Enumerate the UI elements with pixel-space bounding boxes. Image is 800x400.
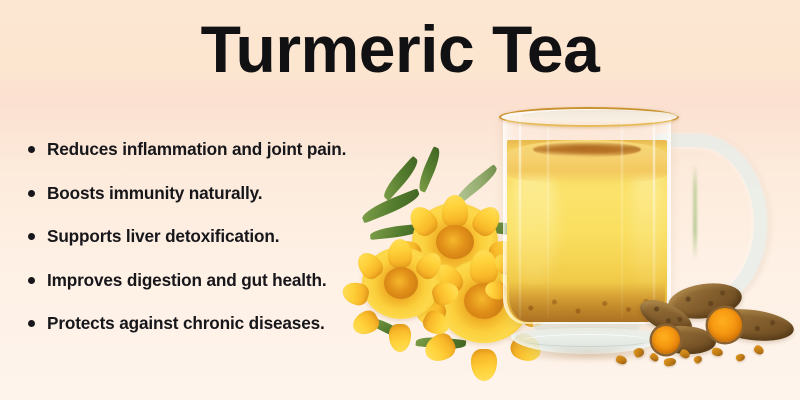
bullet-icon — [28, 277, 35, 284]
turmeric-crumb — [663, 357, 676, 367]
tea-sediment-grains — [513, 290, 661, 320]
mug-base-stem — [533, 316, 641, 336]
mug-handle-glint — [693, 164, 697, 260]
list-item: Supports liver detoxification. — [28, 215, 448, 259]
benefits-list: Reduces inflammation and joint pain. Boo… — [28, 128, 448, 346]
list-item-label: Protects against chronic diseases. — [47, 313, 325, 334]
turmeric-crumb — [633, 346, 646, 358]
bullet-icon — [28, 233, 35, 240]
bullet-icon — [28, 320, 35, 327]
liquid-highlight-left — [511, 156, 557, 286]
list-item: Reduces inflammation and joint pain. — [28, 128, 448, 172]
glass-mug-of-turmeric-tea — [487, 112, 757, 362]
turmeric-crumb — [753, 344, 766, 356]
turmeric-root — [708, 305, 795, 345]
list-item: Boosts immunity naturally. — [28, 172, 448, 216]
turmeric-tea-poster: Turmeric Tea Reduces inflammation and jo… — [0, 0, 800, 400]
list-item: Improves digestion and gut health. — [28, 259, 448, 303]
bullet-icon — [28, 190, 35, 197]
mug-base-ring — [523, 334, 651, 347]
spice-dusting — [533, 142, 641, 157]
list-item-label: Improves digestion and gut health. — [47, 270, 326, 291]
turmeric-crumb — [679, 348, 692, 360]
mug-shadow — [505, 348, 673, 362]
turmeric-crumb — [693, 354, 704, 364]
turmeric-root — [653, 324, 717, 356]
list-item-label: Supports liver detoxification. — [47, 226, 279, 247]
list-item-label: Reduces inflammation and joint pain. — [47, 139, 346, 160]
turmeric-crumb — [711, 347, 723, 357]
mug-rim — [499, 107, 679, 127]
tea-sediment — [509, 282, 665, 322]
turmeric-tea-liquid — [507, 140, 667, 322]
turmeric-cut-face — [708, 308, 742, 342]
mug-base-foot — [511, 328, 663, 354]
turmeric-crumb — [735, 353, 746, 362]
tea-foam — [507, 140, 667, 184]
mug-glass-body — [503, 112, 671, 324]
page-title: Turmeric Tea — [0, 8, 800, 90]
mug-handle — [645, 134, 767, 312]
liquid-highlight-right — [631, 148, 665, 298]
turmeric-root — [666, 279, 744, 323]
turmeric-crumb — [615, 354, 628, 365]
list-item-label: Boosts immunity naturally. — [47, 183, 262, 204]
turmeric-crumb — [649, 352, 660, 363]
turmeric-root — [635, 293, 697, 341]
list-item: Protects against chronic diseases. — [28, 302, 448, 346]
mug-rim-inner — [521, 110, 679, 121]
bullet-icon — [28, 146, 35, 153]
turmeric-cut-face — [652, 326, 680, 354]
marigold-bloom — [438, 259, 530, 343]
marigold-bloom — [500, 247, 554, 299]
turmeric-rhizomes — [638, 282, 800, 372]
